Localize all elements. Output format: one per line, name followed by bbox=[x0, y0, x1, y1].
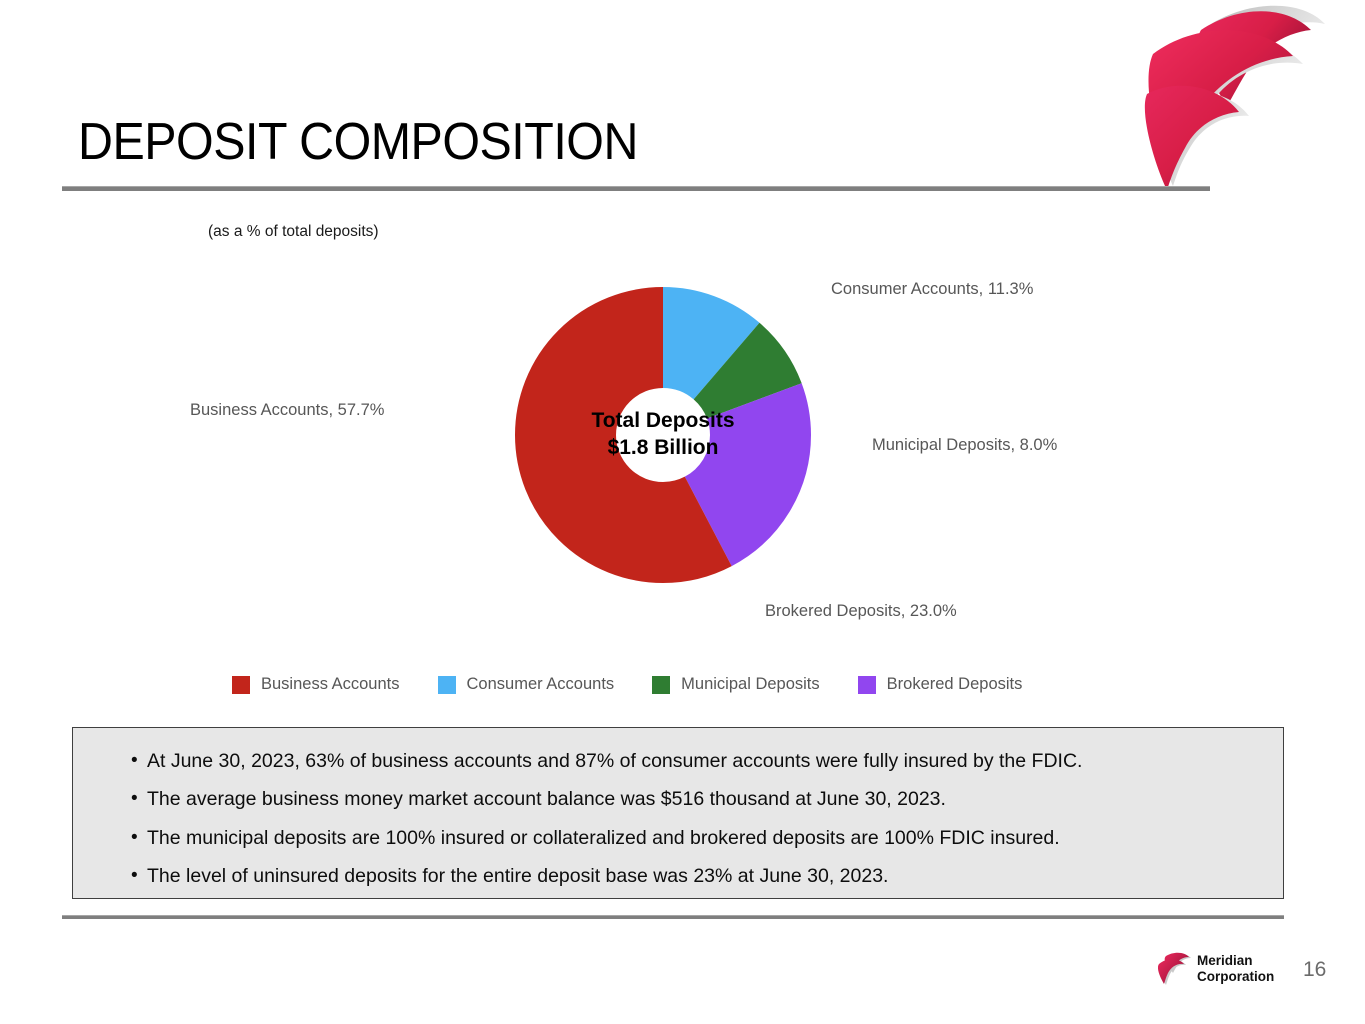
meridian-logo-icon bbox=[1158, 952, 1192, 986]
legend-swatch-icon bbox=[438, 676, 456, 694]
list-item-text: The level of uninsured deposits for the … bbox=[147, 865, 888, 888]
deposit-composition-donut-chart: Total Deposits $1.8 Billion bbox=[468, 240, 858, 630]
list-item-text: At June 30, 2023, 63% of business accoun… bbox=[147, 750, 1082, 773]
data-label-brokered-deposits: Brokered Deposits, 23.0% bbox=[765, 602, 957, 621]
data-label-business-accounts: Business Accounts, 57.7% bbox=[190, 401, 384, 420]
chart-subtitle: (as a % of total deposits) bbox=[208, 223, 379, 241]
footer-brand-line-2: Corporation bbox=[1197, 969, 1274, 984]
list-item: • At June 30, 2023, 63% of business acco… bbox=[131, 750, 1253, 773]
footer-brand: Meridian Corporation bbox=[1158, 952, 1274, 986]
legend-item-consumer-accounts[interactable]: Consumer Accounts bbox=[438, 675, 615, 694]
footer-brand-name: Meridian Corporation bbox=[1197, 953, 1274, 985]
legend-swatch-icon bbox=[652, 676, 670, 694]
bullet-glyph: • bbox=[131, 788, 147, 811]
list-item: • The municipal deposits are 100% insure… bbox=[131, 827, 1253, 850]
data-label-consumer-accounts: Consumer Accounts, 11.3% bbox=[831, 280, 1033, 299]
list-item: • The level of uninsured deposits for th… bbox=[131, 865, 1253, 888]
bullet-glyph: • bbox=[131, 827, 147, 850]
legend-label: Business Accounts bbox=[261, 675, 400, 694]
data-label-municipal-deposits: Municipal Deposits, 8.0% bbox=[872, 436, 1057, 455]
title-divider bbox=[62, 186, 1210, 191]
legend-label: Municipal Deposits bbox=[681, 675, 819, 694]
footer-divider bbox=[62, 915, 1284, 919]
bullet-glyph: • bbox=[131, 865, 147, 888]
legend-item-business-accounts[interactable]: Business Accounts bbox=[232, 675, 400, 694]
page-title: DEPOSIT COMPOSITION bbox=[78, 112, 638, 172]
page-number: 16 bbox=[1303, 958, 1326, 982]
legend-item-brokered-deposits[interactable]: Brokered Deposits bbox=[858, 675, 1023, 694]
legend-swatch-icon bbox=[232, 676, 250, 694]
bullet-glyph: • bbox=[131, 750, 147, 773]
footnotes-box: • At June 30, 2023, 63% of business acco… bbox=[72, 727, 1284, 899]
donut-slices bbox=[566, 338, 761, 533]
meridian-globe-swoosh-logo bbox=[1143, 2, 1343, 192]
list-item-text: The municipal deposits are 100% insured … bbox=[147, 827, 1060, 850]
list-item: • The average business money market acco… bbox=[131, 788, 1253, 811]
chart-legend: Business Accounts Consumer Accounts Muni… bbox=[232, 675, 1112, 694]
footer-brand-line-1: Meridian bbox=[1197, 953, 1253, 968]
donut-svg bbox=[468, 240, 858, 630]
legend-label: Brokered Deposits bbox=[887, 675, 1023, 694]
list-item-text: The average business money market accoun… bbox=[147, 788, 946, 811]
legend-label: Consumer Accounts bbox=[467, 675, 615, 694]
legend-item-municipal-deposits[interactable]: Municipal Deposits bbox=[652, 675, 819, 694]
legend-swatch-icon bbox=[858, 676, 876, 694]
